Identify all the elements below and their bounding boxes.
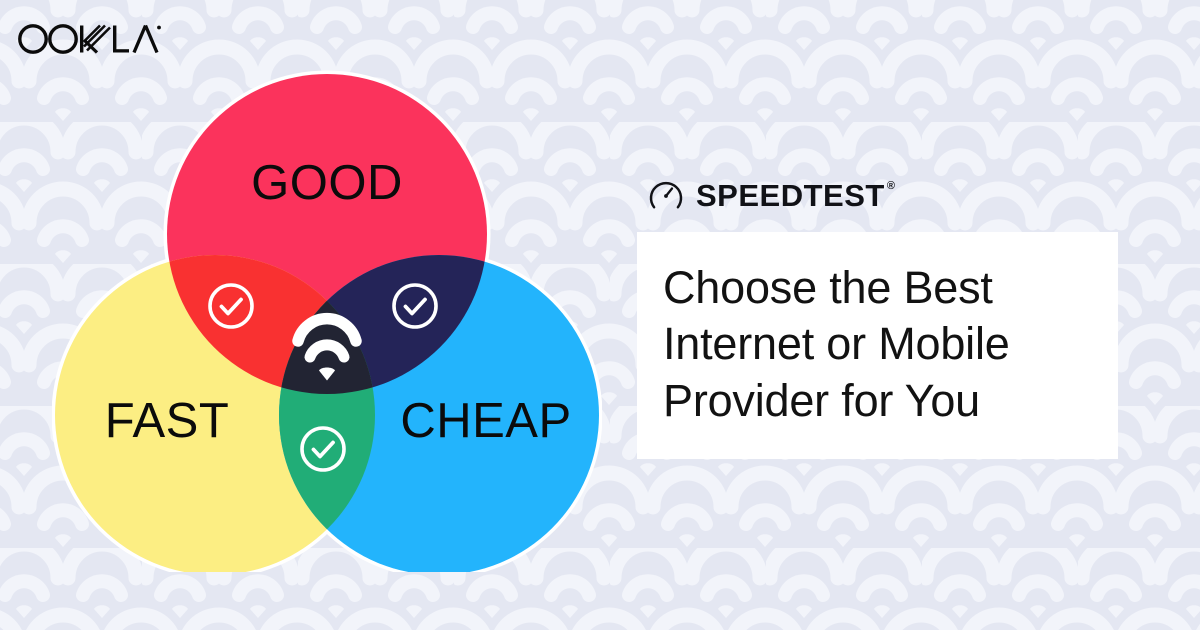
speedtest-wordmark: SPEEDTEST ® bbox=[696, 180, 895, 211]
headline-line-1: Choose the Best bbox=[663, 260, 1092, 316]
ookla-registered-mark bbox=[157, 26, 161, 30]
speedometer-icon bbox=[649, 178, 683, 212]
speedtest-logo: SPEEDTEST ® bbox=[637, 172, 1122, 218]
venn-label-good: GOOD bbox=[251, 156, 403, 210]
ookla-k-streaks bbox=[80, 26, 110, 53]
headline-line-2: Internet or Mobile bbox=[663, 316, 1092, 372]
venn-label-fast: FAST bbox=[105, 394, 230, 448]
social-share-card: GOOD FAST CHEAP bbox=[0, 0, 1200, 630]
headline-line-3: Provider for You bbox=[663, 373, 1092, 429]
speedtest-wordmark-text: SPEEDTEST bbox=[696, 180, 885, 211]
ookla-l bbox=[113, 26, 129, 53]
venn-label-cheap: CHEAP bbox=[400, 394, 571, 448]
page-title: Choose the Best Internet or Mobile Provi… bbox=[663, 260, 1092, 429]
ookla-a bbox=[134, 26, 157, 53]
venn-diagram: GOOD FAST CHEAP bbox=[52, 62, 602, 572]
right-content-column: SPEEDTEST ® Choose the Best Internet or … bbox=[637, 172, 1122, 459]
headline-card: Choose the Best Internet or Mobile Provi… bbox=[637, 232, 1118, 459]
speedtest-registered-mark: ® bbox=[887, 181, 896, 192]
ookla-logo bbox=[16, 18, 162, 60]
